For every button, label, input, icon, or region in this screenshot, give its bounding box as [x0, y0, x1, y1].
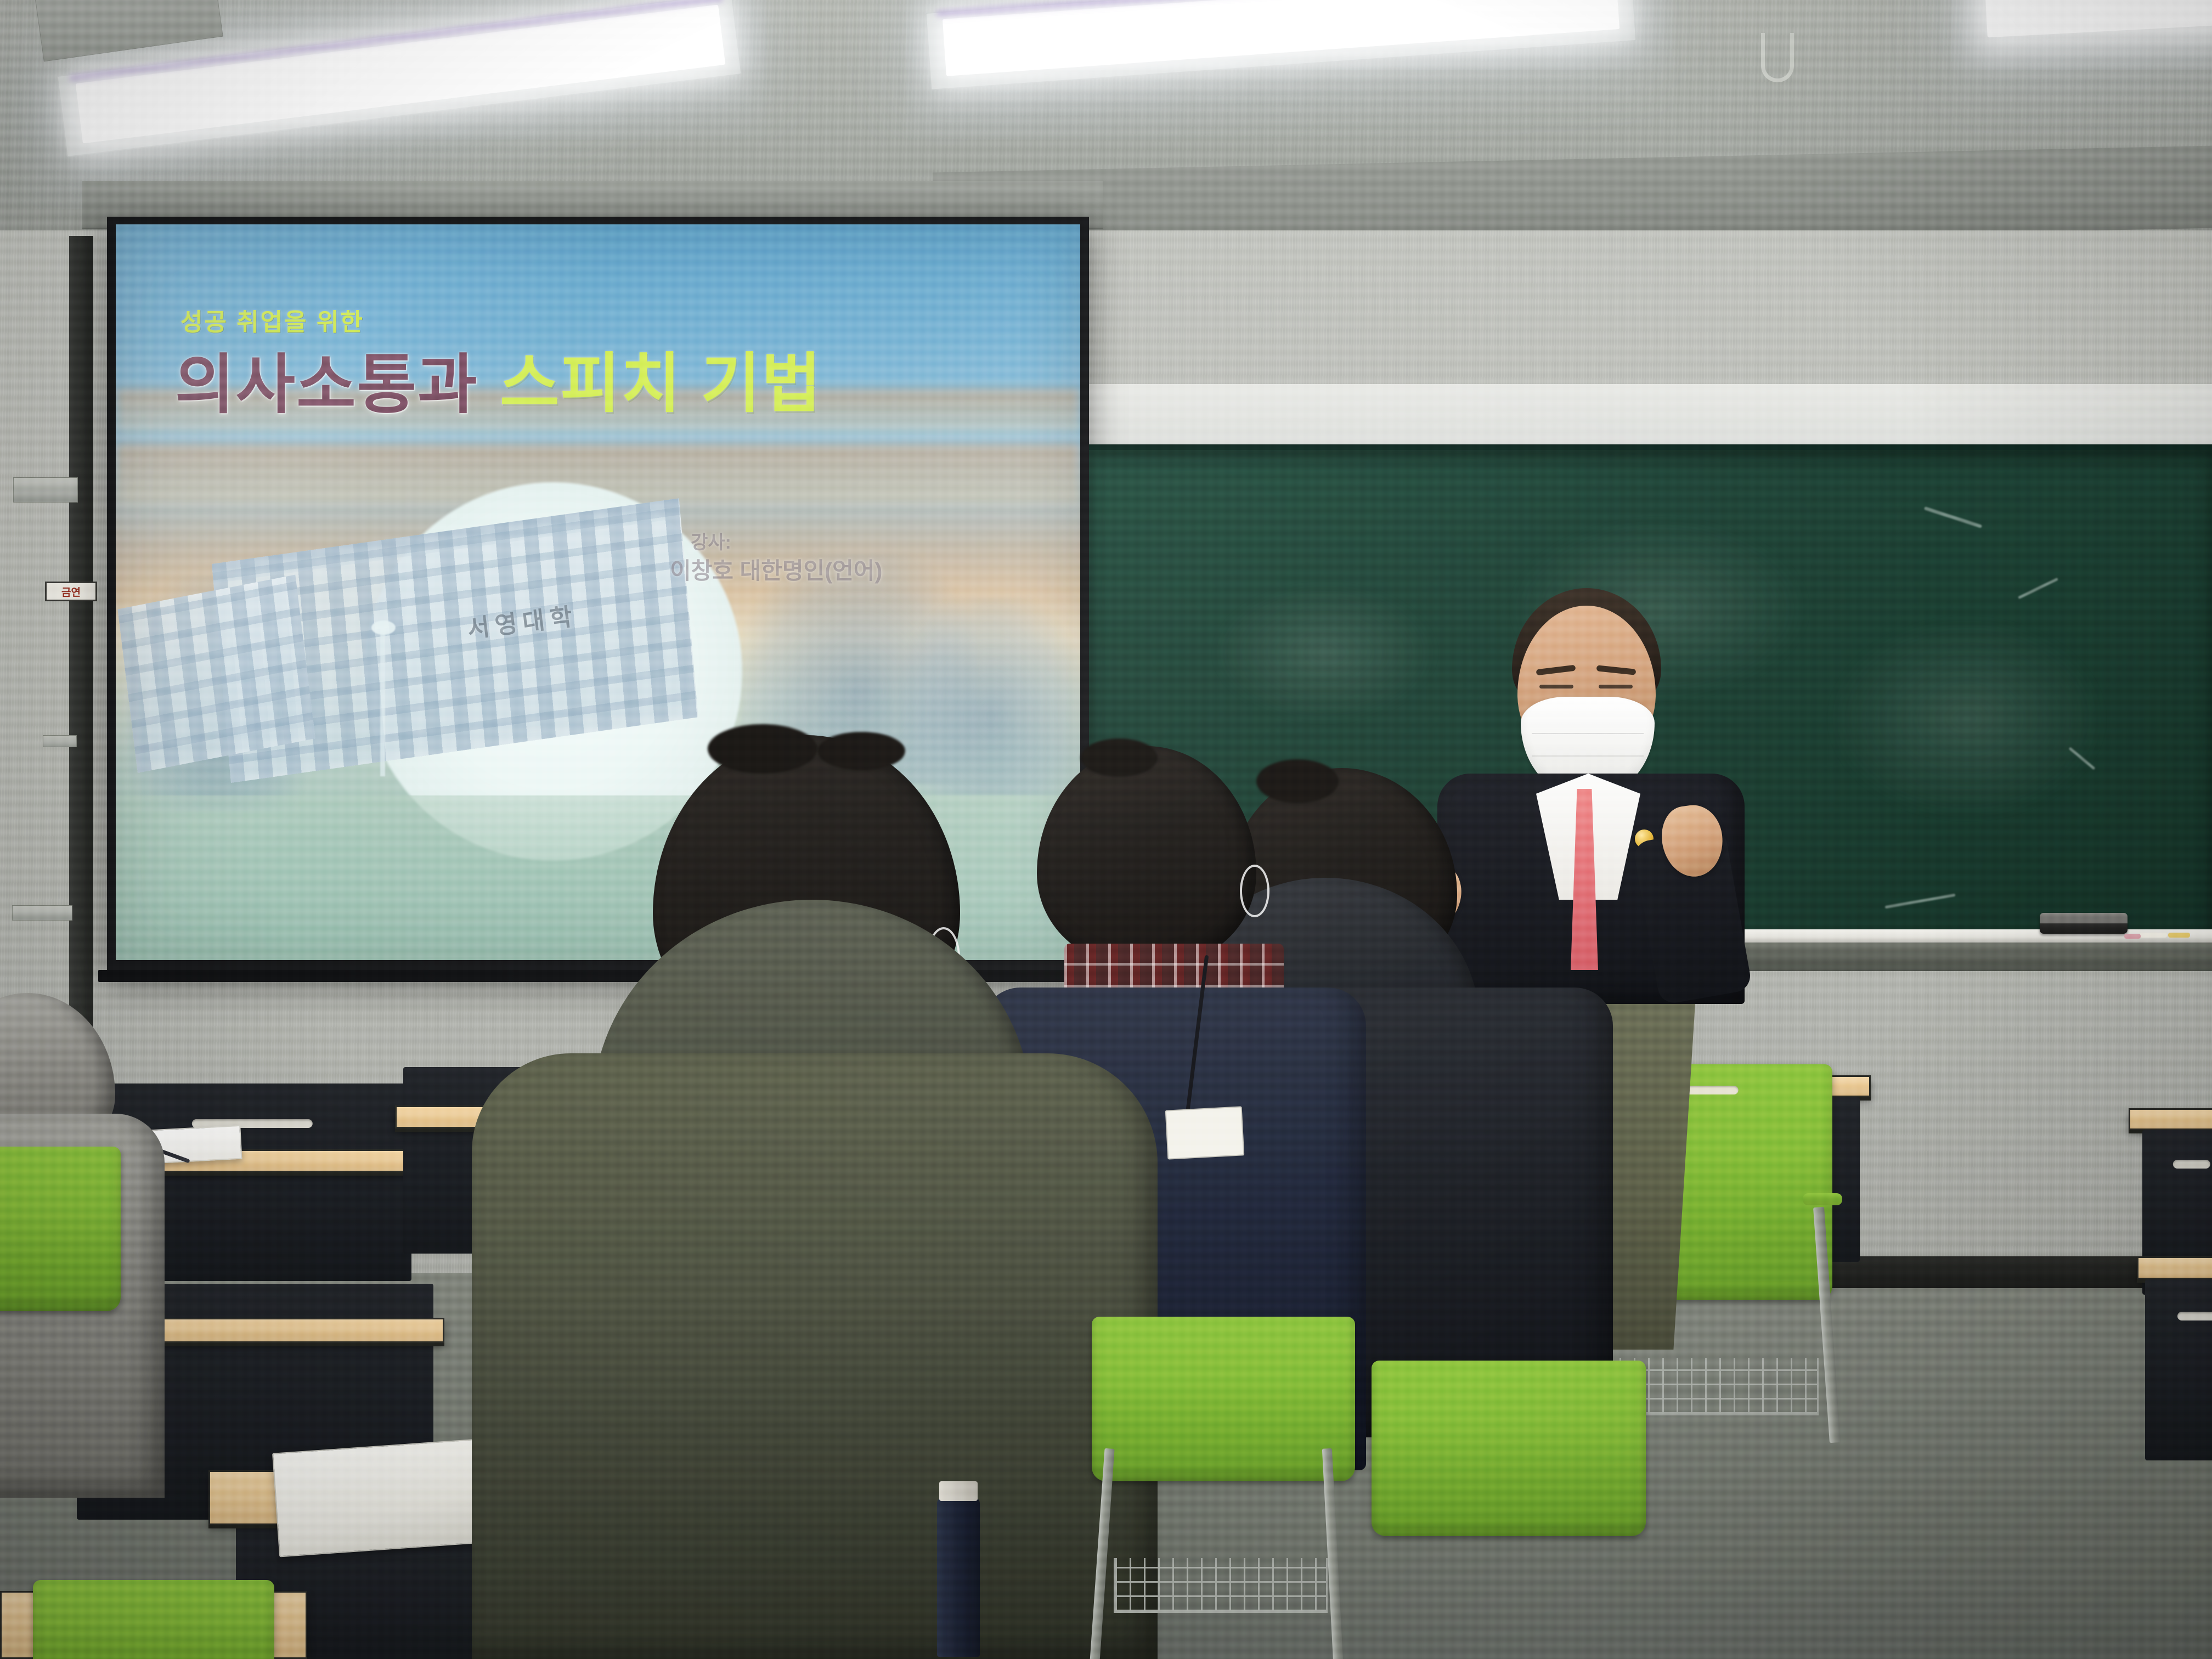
desk-panel-backright-2	[2145, 1279, 2212, 1460]
slide-presenter-label: 강사:	[691, 527, 731, 554]
chair-arm-right	[1803, 1193, 1842, 1205]
student-lanyard-mask-loop	[1240, 865, 1269, 917]
classroom-photo: 금연 서영대학 성공 취업을 위한	[0, 0, 2212, 1659]
slide-title-part2: 스피치 기법	[500, 331, 822, 425]
water-bottle[interactable]	[937, 1498, 980, 1657]
chalk-smudge-1	[1210, 582, 1440, 724]
water-bottle-cap[interactable]	[939, 1481, 978, 1501]
student-olive-jacket-hair-tuft-a	[708, 724, 817, 774]
chalk-white[interactable]	[2140, 933, 2167, 938]
slide-lamp-post	[380, 628, 385, 776]
student-olive-jacket-torso	[472, 1053, 1158, 1659]
building-wing-windows	[117, 575, 315, 773]
ceiling-hook	[1761, 33, 1794, 82]
chalk-yellow[interactable]	[2168, 933, 2190, 938]
student-olive-jacket-hair-tuft-b	[817, 732, 905, 770]
wall-sign: 금연	[45, 582, 97, 601]
desk-backright-2	[2137, 1256, 2212, 1279]
wall-bracket-upper	[13, 477, 78, 503]
chair-backrest	[0, 1147, 121, 1311]
door-jamb	[69, 236, 93, 1086]
chair-front-center-basket	[1114, 1558, 1328, 1613]
chalkboard-eraser[interactable]	[2040, 913, 2128, 934]
wall-bracket-lower	[43, 735, 77, 747]
chalk-mark-2	[2018, 578, 2058, 600]
chair-backrest	[1372, 1361, 1646, 1536]
slide-presenter-name: 이창호 대한명인(언어)	[670, 552, 882, 586]
slide-lamp-head	[371, 620, 396, 635]
desk-backright-1	[2129, 1108, 2212, 1130]
chalk-smudge-3	[1824, 614, 2109, 823]
chair-front-right[interactable]	[1372, 1361, 1646, 1536]
slide-title-part1: 의사소통과	[175, 332, 478, 426]
presenter-eye-right	[1599, 685, 1633, 689]
wall-panel-above-board	[1084, 384, 2212, 450]
desk-surface	[2137, 1256, 2212, 1279]
wall-bracket-base	[12, 905, 72, 921]
chair-backrest	[1092, 1317, 1355, 1481]
desk-surface	[2129, 1108, 2212, 1130]
chalk-mark-4	[1885, 894, 1956, 909]
chalk-pink[interactable]	[2124, 934, 2141, 939]
presenter-eye-left	[1539, 685, 1573, 689]
chalk-mark-1	[1924, 506, 1982, 528]
student-olive-jacket	[510, 735, 1223, 1659]
chair-front-center[interactable]	[1092, 1317, 1355, 1481]
chair-left-mid[interactable]	[0, 1147, 121, 1311]
chair-bottom-left[interactable]	[33, 1580, 274, 1659]
wall-sign-text: 금연	[61, 584, 81, 599]
chair-backrest	[33, 1580, 274, 1659]
slide-campus-wing	[117, 575, 315, 773]
